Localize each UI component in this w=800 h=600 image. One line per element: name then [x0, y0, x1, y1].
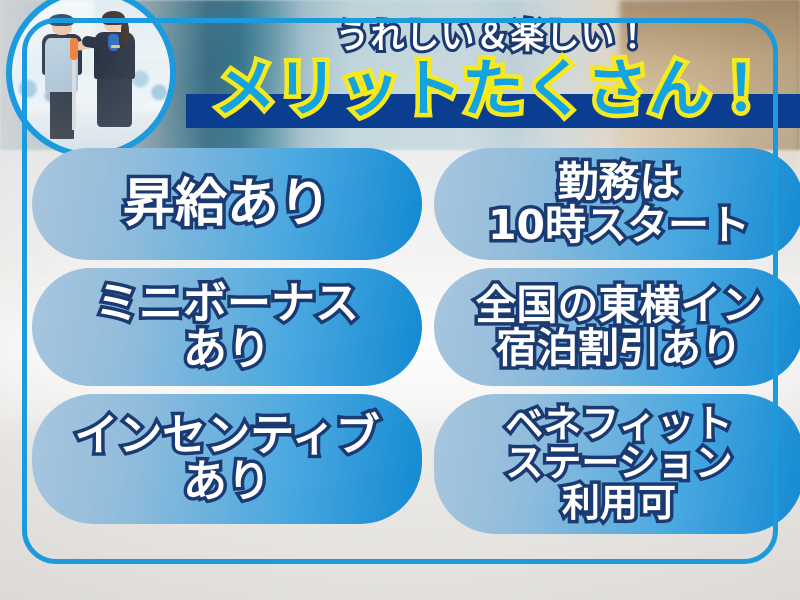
merit-label-hotel-discount: 全国の東横イン 宿泊割引あり	[476, 284, 763, 369]
merit-label-incentive: インセンティブ あり	[74, 413, 379, 505]
merit-pill-grid: 昇給あり 勤務は 10時スタート ミニボーナス あり 全国の東横イン 宿泊割引あ…	[0, 148, 800, 534]
merit-label-start-time: 勤務は 10時スタート	[488, 161, 750, 246]
merit-pill-start-time[interactable]: 勤務は 10時スタート	[434, 148, 800, 260]
merit-pill-mini-bonus[interactable]: ミニボーナス あり	[32, 268, 422, 386]
photo-soft-overlay	[12, 0, 170, 152]
headline-top: うれしい＆楽しい！	[336, 20, 651, 54]
merit-pill-incentive[interactable]: インセンティブ あり	[32, 394, 422, 524]
merit-pill-benefit-station[interactable]: ベネフィット ステーション 利用可	[434, 394, 800, 534]
recruit-merit-banner: うれしい＆楽しい！ メリットたくさん！	[0, 0, 800, 600]
merit-pill-hotel-discount[interactable]: 全国の東横イン 宿泊割引あり	[434, 268, 800, 386]
staff-photo-circle	[6, 0, 176, 158]
merit-label-pay-raise: 昇給あり	[123, 177, 331, 231]
headline-main: メリットたくさん！	[214, 58, 772, 120]
merit-label-mini-bonus: ミニボーナス あり	[95, 281, 359, 373]
merit-pill-pay-raise[interactable]: 昇給あり	[32, 148, 422, 260]
staff-photo-image	[12, 0, 170, 152]
merit-label-benefit-station: ベネフィット ステーション 利用可	[505, 405, 732, 524]
headline-group: うれしい＆楽しい！ メリットたくさん！	[186, 0, 800, 150]
